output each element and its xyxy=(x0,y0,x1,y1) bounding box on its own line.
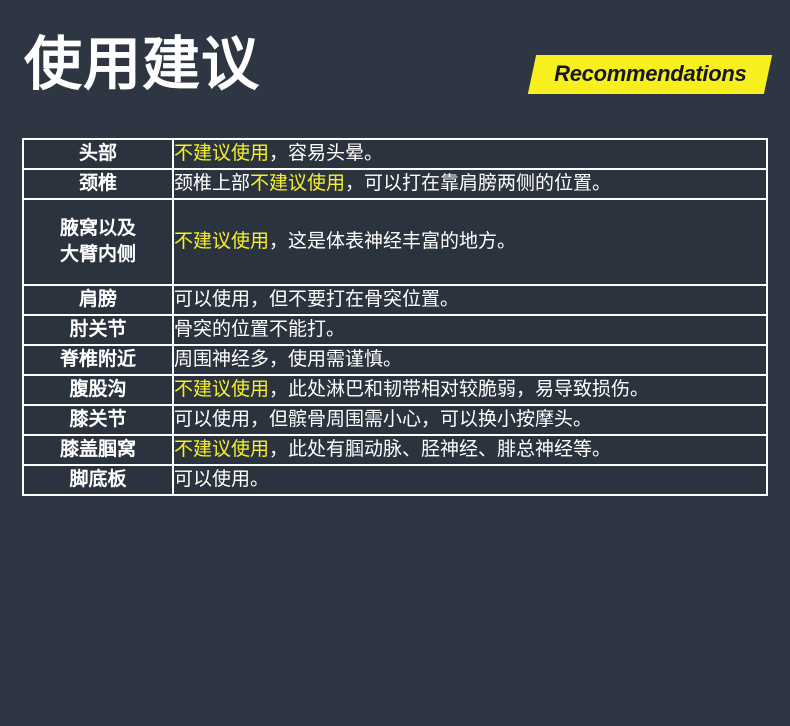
table-row: 颈椎颈椎上部不建议使用，可以打在靠肩膀两侧的位置。 xyxy=(23,169,767,199)
note-text: ，此处淋巴和韧带相对较脆弱，易导致损伤。 xyxy=(269,379,649,400)
note-highlight: 不建议使用 xyxy=(174,231,269,252)
table-row: 腹股沟不建议使用，此处淋巴和韧带相对较脆弱，易导致损伤。 xyxy=(23,375,767,405)
region-cell: 膝盖腘窝 xyxy=(23,435,173,465)
region-label: 肩膀 xyxy=(24,287,172,313)
note-cell: 不建议使用，这是体表神经丰富的地方。 xyxy=(173,199,767,285)
region-cell: 肩膀 xyxy=(23,285,173,315)
note-text: ，可以打在靠肩膀两侧的位置。 xyxy=(345,173,611,194)
note-cell: 不建议使用，容易头晕。 xyxy=(173,139,767,169)
region-label: 头部 xyxy=(24,141,172,167)
region-label: 颈椎 xyxy=(24,171,172,197)
region-cell: 腹股沟 xyxy=(23,375,173,405)
note-cell: 周围神经多，使用需谨慎。 xyxy=(173,345,767,375)
region-cell: 膝关节 xyxy=(23,405,173,435)
page-title: 使用建议 xyxy=(24,30,260,100)
table-row: 膝盖腘窝不建议使用，此处有腘动脉、胫神经、腓总神经等。 xyxy=(23,435,767,465)
note-text: 颈椎上部 xyxy=(174,173,250,194)
badge-shape: Recommendations xyxy=(528,55,773,94)
note-cell: 可以使用，但不要打在骨突位置。 xyxy=(173,285,767,315)
region-cell: 肘关节 xyxy=(23,315,173,345)
region-cell: 颈椎 xyxy=(23,169,173,199)
badge-label: Recommendations xyxy=(554,61,746,87)
note-text: ，这是体表神经丰富的地方。 xyxy=(269,231,516,252)
region-label: 腹股沟 xyxy=(24,377,172,403)
region-label: 脚底板 xyxy=(24,467,172,493)
note-text: 可以使用，但不要打在骨突位置。 xyxy=(174,289,459,310)
note-highlight: 不建议使用 xyxy=(174,379,269,400)
table-row: 头部不建议使用，容易头晕。 xyxy=(23,139,767,169)
region-cell: 脚底板 xyxy=(23,465,173,495)
note-highlight: 不建议使用 xyxy=(174,143,269,164)
table-row: 肘关节骨突的位置不能打。 xyxy=(23,315,767,345)
region-cell: 腋窝以及大臂内侧 xyxy=(23,199,173,285)
note-text: ，此处有腘动脉、胫神经、腓总神经等。 xyxy=(269,439,611,460)
note-text: 骨突的位置不能打。 xyxy=(174,319,345,340)
table-row: 腋窝以及大臂内侧不建议使用，这是体表神经丰富的地方。 xyxy=(23,199,767,285)
page-header: 使用建议 Recommendations xyxy=(0,0,790,126)
region-label: 肘关节 xyxy=(24,317,172,343)
table-row: 脚底板可以使用。 xyxy=(23,465,767,495)
note-text: ，容易头晕。 xyxy=(269,143,383,164)
note-cell: 颈椎上部不建议使用，可以打在靠肩膀两侧的位置。 xyxy=(173,169,767,199)
note-text: 可以使用。 xyxy=(174,469,269,490)
note-highlight: 不建议使用 xyxy=(174,439,269,460)
note-cell: 可以使用，但髌骨周围需小心，可以换小按摩头。 xyxy=(173,405,767,435)
note-cell: 骨突的位置不能打。 xyxy=(173,315,767,345)
note-cell: 不建议使用，此处淋巴和韧带相对较脆弱，易导致损伤。 xyxy=(173,375,767,405)
region-label: 脊椎附近 xyxy=(24,347,172,373)
region-label: 膝盖腘窝 xyxy=(24,437,172,463)
region-cell: 头部 xyxy=(23,139,173,169)
region-label: 膝关节 xyxy=(24,407,172,433)
region-label: 腋窝以及 xyxy=(24,216,172,242)
recommendations-table: 头部不建议使用，容易头晕。颈椎颈椎上部不建议使用，可以打在靠肩膀两侧的位置。腋窝… xyxy=(22,138,768,496)
table-body: 头部不建议使用，容易头晕。颈椎颈椎上部不建议使用，可以打在靠肩膀两侧的位置。腋窝… xyxy=(23,139,767,495)
table-row: 脊椎附近周围神经多，使用需谨慎。 xyxy=(23,345,767,375)
note-highlight: 不建议使用 xyxy=(250,173,345,194)
region-label: 大臂内侧 xyxy=(24,242,172,268)
note-cell: 不建议使用，此处有腘动脉、胫神经、腓总神经等。 xyxy=(173,435,767,465)
recommendations-badge: Recommendations xyxy=(532,55,768,94)
note-text: 周围神经多，使用需谨慎。 xyxy=(174,349,402,370)
note-cell: 可以使用。 xyxy=(173,465,767,495)
region-cell: 脊椎附近 xyxy=(23,345,173,375)
note-text: 可以使用，但髌骨周围需小心，可以换小按摩头。 xyxy=(174,409,592,430)
table-row: 膝关节可以使用，但髌骨周围需小心，可以换小按摩头。 xyxy=(23,405,767,435)
table-row: 肩膀可以使用，但不要打在骨突位置。 xyxy=(23,285,767,315)
